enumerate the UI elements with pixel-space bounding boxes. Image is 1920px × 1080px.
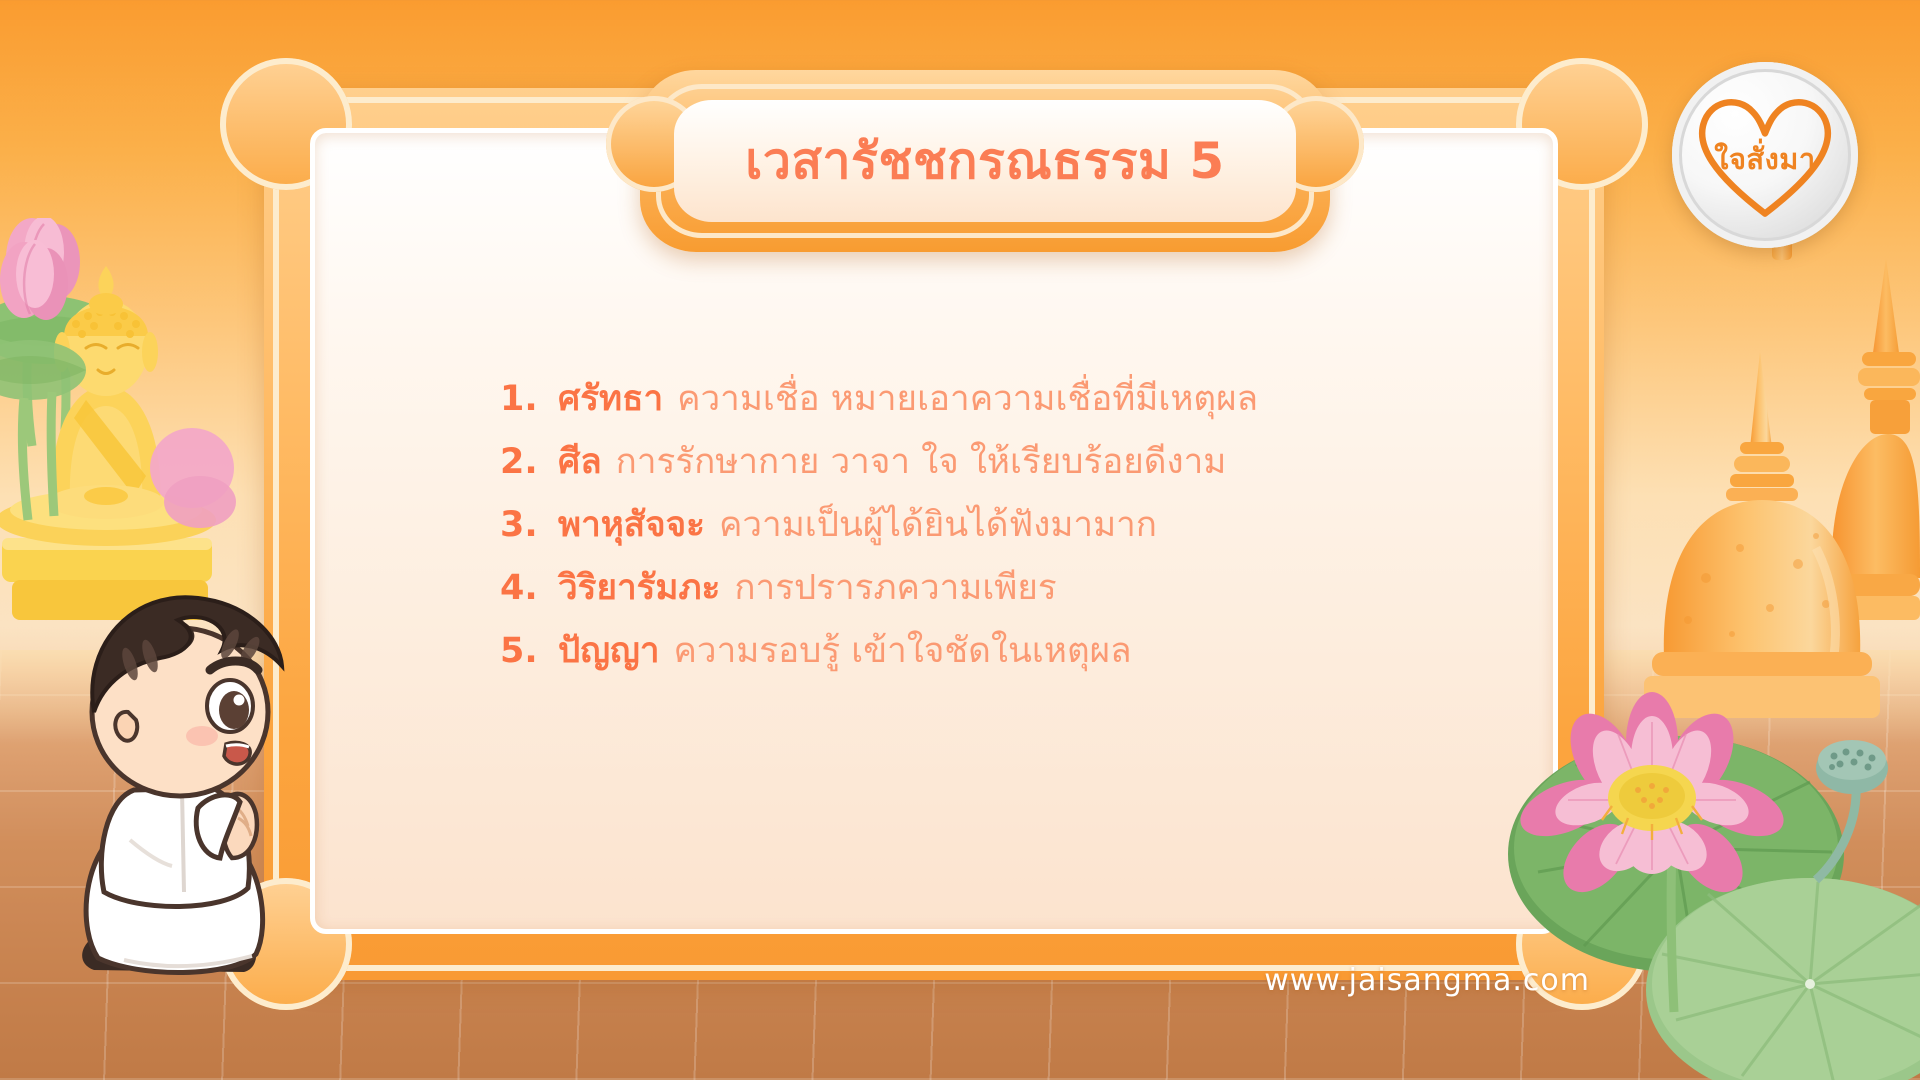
list-item-number: 4. bbox=[500, 571, 544, 606]
list-item: 1. ศรัทธา ความเชื่อ หมายเอาความเชื่อที่ม… bbox=[500, 382, 1500, 417]
list-item-description: ความรอบรู้ เข้าใจชัดในเหตุผล bbox=[674, 634, 1132, 669]
praying-boy-icon bbox=[34, 540, 302, 1010]
list-item-term: ศรัทธา bbox=[558, 382, 663, 417]
page-title: เวสารัชชกรณธรรม 5 bbox=[745, 136, 1224, 186]
logo-text: ใจสั่งมา bbox=[1672, 136, 1858, 182]
list-item-term: ศีล bbox=[558, 445, 602, 480]
dhamma-list: 1. ศรัทธา ความเชื่อ หมายเอาความเชื่อที่ม… bbox=[500, 382, 1500, 697]
lotus-flower-icon bbox=[1480, 672, 1920, 1080]
list-item-number: 1. bbox=[500, 382, 544, 417]
list-item: 2. ศีล การรักษากาย วาจา ใจ ให้เรียบร้อยด… bbox=[500, 445, 1500, 480]
list-item-description: ความเป็นผู้ได้ยินได้ฟังมามาก bbox=[719, 508, 1157, 543]
list-item-description: การปรารภความเพียร bbox=[734, 571, 1056, 606]
list-item: 5. ปัญญา ความรอบรู้ เข้าใจชัดในเหตุผล bbox=[500, 634, 1500, 669]
logo-badge[interactable]: ใจสั่งมา bbox=[1672, 62, 1858, 248]
list-item: 4. วิริยารัมภะ การปรารภความเพียร bbox=[500, 571, 1500, 606]
stupa-icon bbox=[1620, 248, 1920, 718]
list-item-term: พาหุสัจจะ bbox=[558, 508, 705, 543]
list-item-term: ปัญญา bbox=[558, 634, 660, 669]
list-item-number: 5. bbox=[500, 634, 544, 669]
list-item: 3. พาหุสัจจะ ความเป็นผู้ได้ยินได้ฟังมามา… bbox=[500, 508, 1500, 543]
list-item-number: 3. bbox=[500, 508, 544, 543]
list-item-term: วิริยารัมภะ bbox=[558, 571, 720, 606]
website-url[interactable]: www.jaisangma.com bbox=[1264, 963, 1590, 998]
title-plaque-face: เวสารัชชกรณธรรม 5 bbox=[674, 100, 1296, 222]
title-plaque: เวสารัชชกรณธรรม 5 bbox=[640, 70, 1330, 252]
list-item-description: ความเชื่อ หมายเอาความเชื่อที่มีเหตุผล bbox=[677, 382, 1258, 417]
list-item-description: การรักษากาย วาจา ใจ ให้เรียบร้อยดีงาม bbox=[616, 445, 1227, 480]
list-item-number: 2. bbox=[500, 445, 544, 480]
